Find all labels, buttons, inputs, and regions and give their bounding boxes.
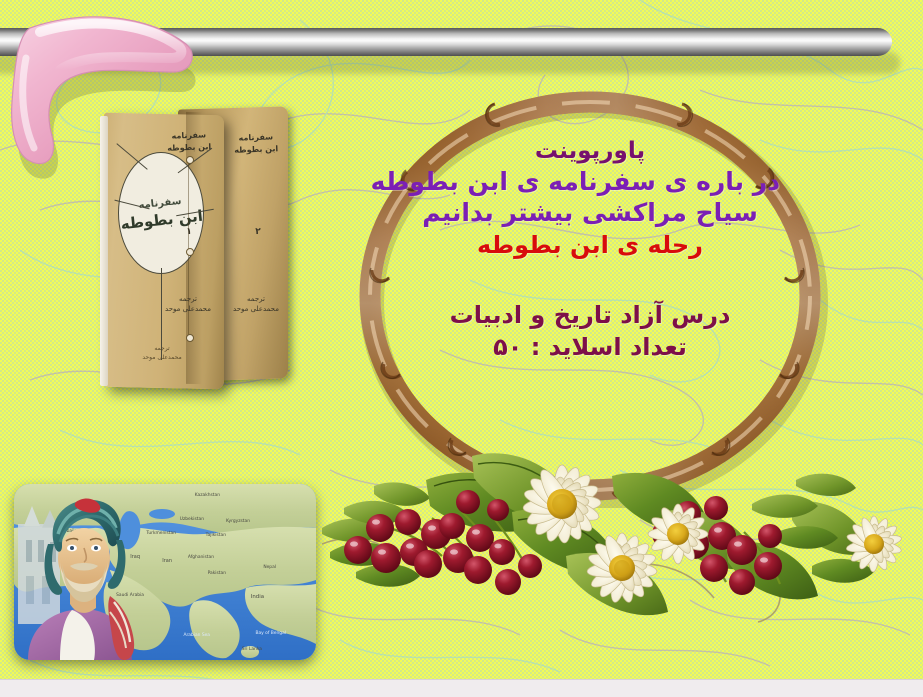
svg-text:Sri Lanka: Sri Lanka (242, 646, 263, 652)
subtitle-slide-count: تعداد اسلاید : ۵۰ (410, 332, 770, 362)
floral-swag (322, 416, 923, 644)
spine-dot (186, 334, 194, 342)
book-volume-1-credit: ترجمه محمدعلی موحد (162, 294, 214, 314)
bottom-edge-strip (0, 679, 923, 697)
portrait-map-photo-card: Kazakhstan Georgia Azerbaijan Turkmenist… (14, 484, 316, 660)
book-volume-2-credit: ترجمه محمدعلی موحد (230, 294, 282, 314)
title-line-1: پاورپوینت (400, 138, 780, 166)
svg-text:Uzbekistan: Uzbekistan (180, 516, 204, 522)
svg-text:Kazakhstan: Kazakhstan (195, 492, 221, 498)
svg-text:Turkmenistan: Turkmenistan (145, 530, 176, 536)
book-volume-1-number: ۱ (170, 226, 208, 239)
svg-text:Saudi Arabia: Saudi Arabia (116, 592, 144, 598)
book-volume-2-spine: سفرنامه ابن بطوطه (232, 132, 280, 155)
svg-text:Afghanistan: Afghanistan (188, 554, 214, 560)
title-line-4: رحله ی ابن بطوطه (400, 231, 780, 260)
map-icon: Kazakhstan Georgia Azerbaijan Turkmenist… (14, 484, 316, 660)
svg-text:India: India (251, 594, 264, 600)
svg-text:Nepal: Nepal (263, 564, 276, 570)
title-line-3: سیاح مراکشی بیشتر بدانیم (400, 198, 780, 228)
book-icon: سفرنامه ابن بطوطه ۲ ترجمه محمدعلی موحد س… (100, 108, 290, 393)
svg-text:Iran: Iran (162, 558, 172, 564)
title-line-2: در باره ی سفرنامه ی ابن بطوطه (400, 167, 780, 197)
slide-subtitle: درس آزاد تاریخ و ادبیات تعداد اسلاید : ۵… (410, 300, 770, 362)
book-volume-1-spine: سفرنامه ابن بطوطه (166, 130, 212, 153)
svg-text:Tajikistan: Tajikistan (205, 532, 227, 538)
spine-dot (186, 156, 194, 164)
slide-title: پاورپوینت در باره ی سفرنامه ی ابن بطوطه … (400, 138, 780, 259)
svg-text:Bay of Bengal: Bay of Bengal (255, 630, 286, 636)
svg-text:Iraq: Iraq (130, 554, 140, 560)
book-page-edge (100, 116, 108, 386)
svg-text:Arabian Sea: Arabian Sea (183, 632, 210, 638)
svg-text:Pakistan: Pakistan (208, 570, 227, 576)
subtitle-course: درس آزاد تاریخ و ادبیات (410, 300, 770, 330)
spine-dot (186, 248, 194, 256)
book-volume-2-number: ۲ (238, 226, 278, 239)
svg-text:Kyrgyzstan: Kyrgyzstan (226, 518, 250, 524)
book-cover-credit: ترجمه محمدعلی موحد (130, 344, 194, 362)
presentation-title-slide: سفرنامه ابن بطوطه ۲ ترجمه محمدعلی موحد س… (0, 0, 923, 697)
